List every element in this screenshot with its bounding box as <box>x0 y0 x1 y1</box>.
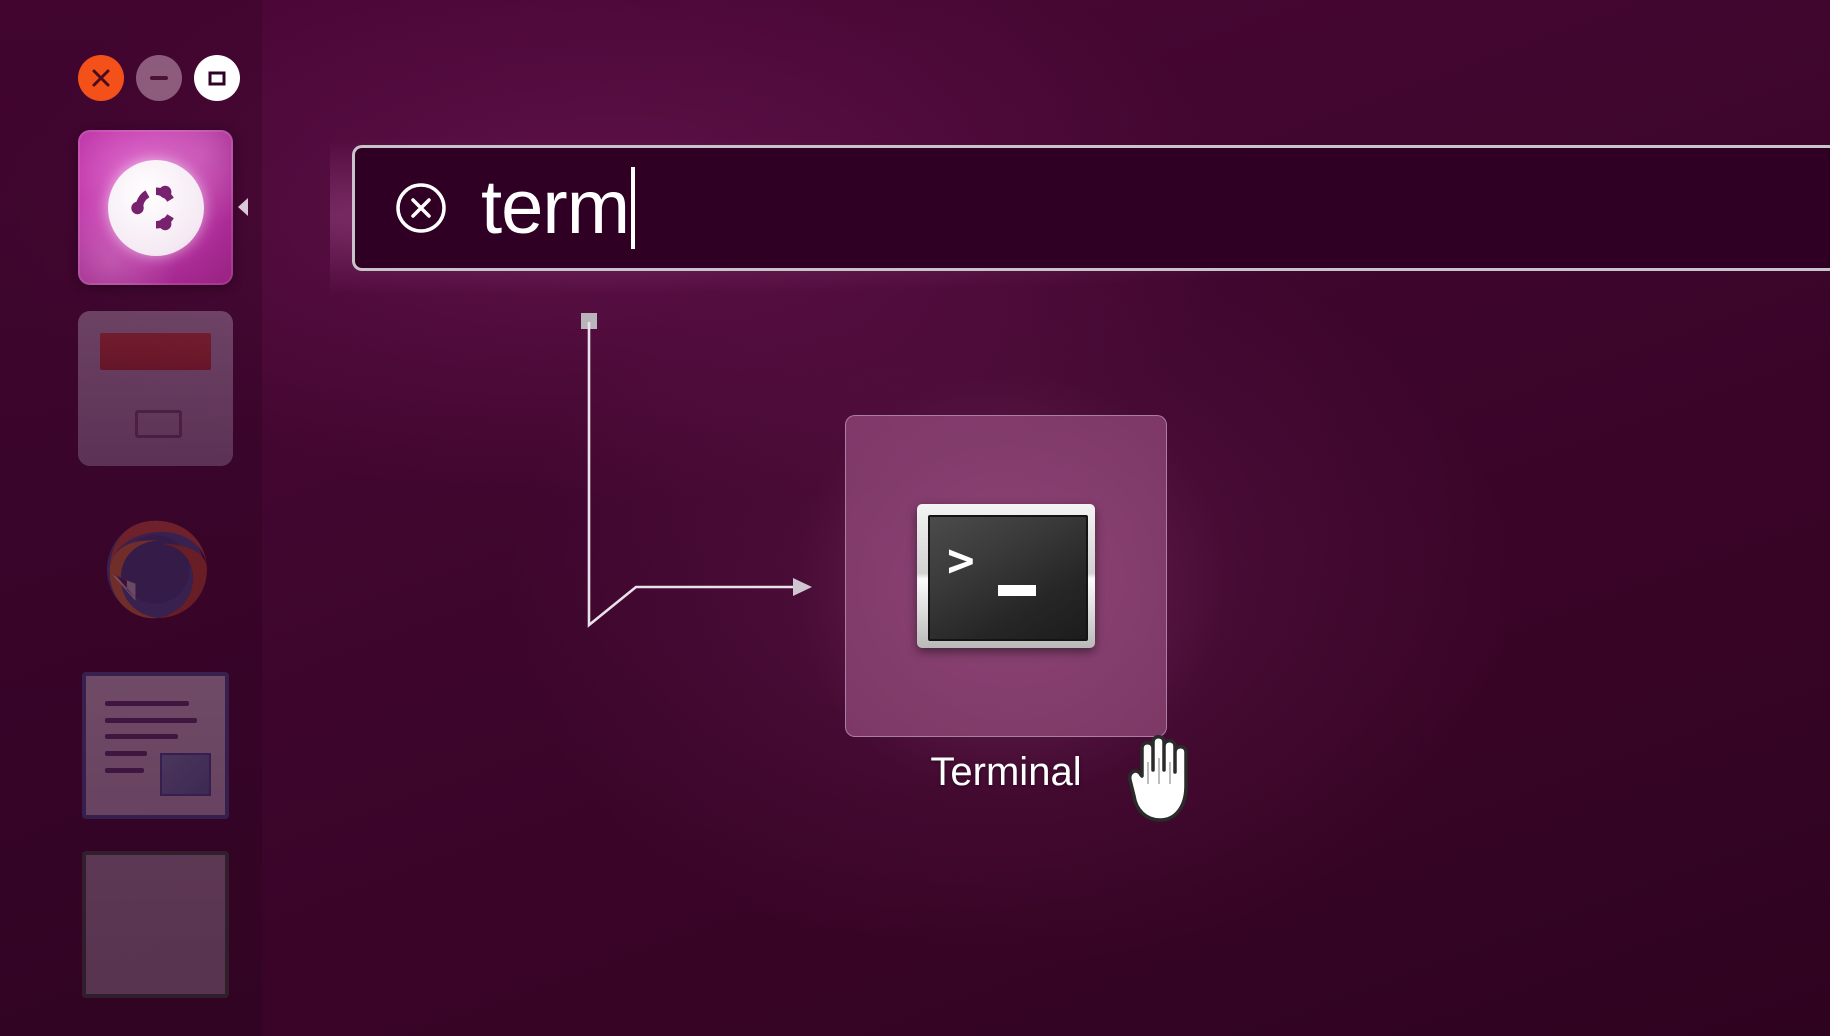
clear-search-icon[interactable] <box>393 180 449 236</box>
maximize-button[interactable] <box>194 55 240 101</box>
annotation-arrowhead-icon <box>793 578 812 596</box>
close-button[interactable] <box>78 55 124 101</box>
minimize-button[interactable] <box>136 55 182 101</box>
cabinet-drawer <box>100 333 212 370</box>
doc-line <box>105 734 177 739</box>
doc-line <box>105 701 188 706</box>
file-cabinet-icon <box>78 311 233 466</box>
cabinet-handle <box>135 410 181 438</box>
annotation-marker <box>581 313 597 329</box>
sidebar-item-calc[interactable] <box>78 847 233 1002</box>
pointing-hand-cursor <box>1124 722 1216 837</box>
sidebar-item-files[interactable] <box>78 311 233 466</box>
terminal-screen: > <box>928 515 1088 641</box>
ubuntu-dash-screen: term > Terminal <box>0 0 1830 1036</box>
annotation-line <box>589 322 795 625</box>
result-tile-terminal[interactable]: > <box>845 415 1167 737</box>
sidebar-item-dash-home[interactable] <box>78 130 233 285</box>
doc-image-thumb <box>160 753 211 796</box>
doc-line <box>105 768 144 773</box>
result-label-terminal: Terminal <box>845 750 1167 795</box>
document-icon <box>82 672 229 819</box>
sidebar-item-firefox[interactable] <box>78 489 233 644</box>
terminal-prompt-glyph: > <box>947 537 975 583</box>
sidebar-item-writer[interactable] <box>78 668 233 823</box>
terminal-icon: > <box>917 504 1095 648</box>
terminal-cursor-underscore <box>998 585 1036 596</box>
spreadsheet-icon <box>82 851 229 998</box>
ubuntu-logo-icon <box>108 160 204 256</box>
search-input[interactable]: term <box>481 170 629 246</box>
launcher-active-arrow-icon <box>238 198 248 216</box>
doc-line <box>105 718 197 723</box>
dash-search-bar[interactable]: term <box>352 145 1830 271</box>
firefox-icon <box>84 495 227 638</box>
window-controls <box>78 55 240 101</box>
unity-launcher <box>0 0 262 1036</box>
text-caret <box>631 167 635 249</box>
doc-line <box>105 751 147 756</box>
